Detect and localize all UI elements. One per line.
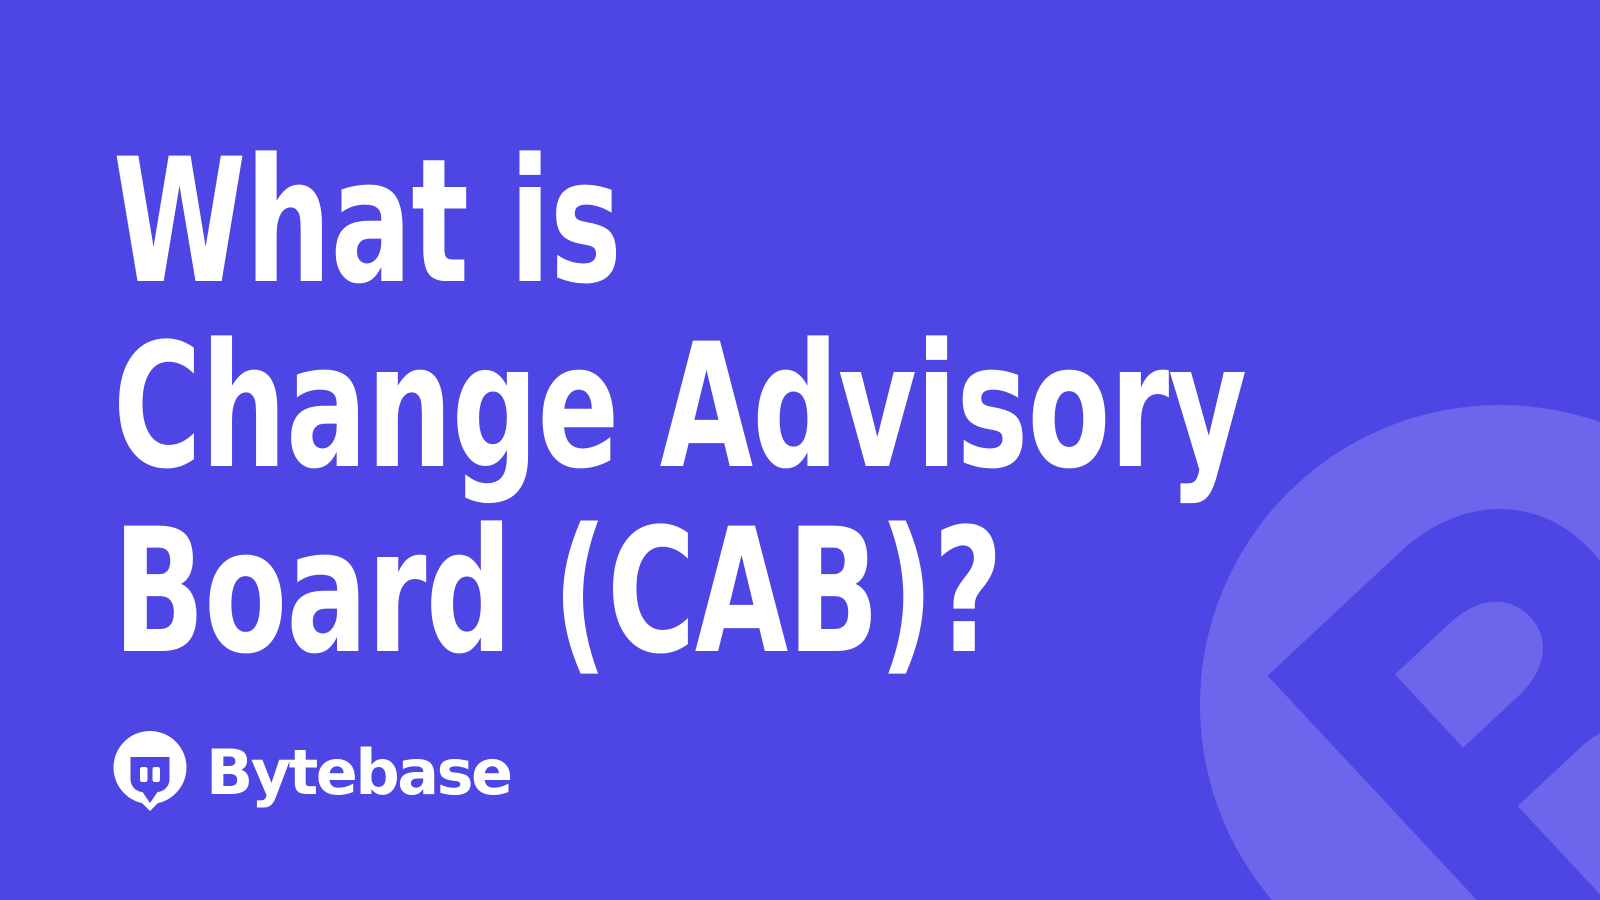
page-title: What is Change Advisory Board (CAB)? xyxy=(113,129,1123,684)
bytebase-wordmark: Bytebase xyxy=(206,742,511,804)
headline-line-3: Board (CAB)? xyxy=(113,499,901,684)
bytebase-logo[interactable]: Bytebase xyxy=(112,731,511,811)
headline-line-1: What is xyxy=(113,129,901,314)
social-card: What is Change Advisory Board (CAB)? Byt… xyxy=(0,0,1600,900)
bytebase-logo-mark-icon xyxy=(112,731,188,811)
bytebase-b-watermark xyxy=(1200,405,1600,900)
headline-line-2: Change Advisory xyxy=(113,314,901,499)
